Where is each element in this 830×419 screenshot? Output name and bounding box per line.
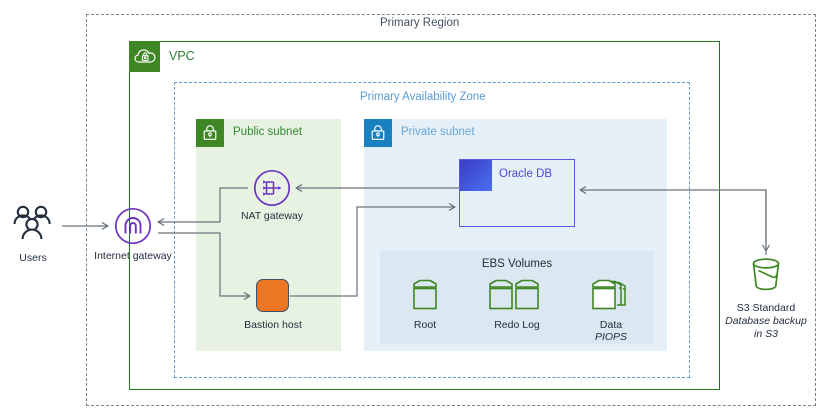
ebs-volumes-title: EBS Volumes xyxy=(380,258,654,270)
oracle-db-label: Oracle DB xyxy=(499,168,552,180)
private-subnet-label: Private subnet xyxy=(401,126,475,138)
public-subnet-area xyxy=(196,119,341,351)
ebs-volume-root[interactable]: Root xyxy=(394,278,456,331)
availability-zone-label: Primary Availability Zone xyxy=(360,91,486,103)
users-icon xyxy=(10,203,56,243)
architecture-diagram: Primary Region VPC Primary Availability … xyxy=(0,0,830,419)
ebs-volume-redo-log[interactable]: Redo Log xyxy=(479,278,555,331)
users-label: Users xyxy=(7,252,59,264)
s3-sublabel-line-2: in S3 xyxy=(714,328,818,341)
ebs-volume-label: Root xyxy=(394,319,456,331)
primary-region-label: Primary Region xyxy=(380,17,459,29)
ebs-volume-icon xyxy=(410,278,440,312)
private-subnet-lock-icon xyxy=(364,119,392,147)
ebs-volume-data[interactable]: Data PIOPS xyxy=(578,278,644,343)
ebs-volume-sublabel: PIOPS xyxy=(578,331,644,343)
bastion-host-instance[interactable] xyxy=(256,279,289,312)
s3-bucket-icon[interactable] xyxy=(745,255,787,297)
ebs-volume-icon xyxy=(589,278,633,312)
nat-gateway-label: NAT gateway xyxy=(227,210,317,222)
ebs-volume-label: Redo Log xyxy=(479,319,555,331)
s3-label: S3 Standard Database backup in S3 xyxy=(714,302,818,341)
internet-gateway-icon[interactable] xyxy=(113,206,153,246)
ebs-volume-label: Data PIOPS xyxy=(578,319,644,343)
vpc-label: VPC xyxy=(169,49,195,63)
ebs-volume-icon xyxy=(488,278,546,312)
nat-gateway-icon[interactable] xyxy=(252,168,292,208)
s3-title: S3 Standard xyxy=(737,302,795,314)
internet-gateway-label: Internet gateway xyxy=(83,250,183,262)
ec2-instance-icon xyxy=(460,160,492,191)
vpc-cloud-lock-icon xyxy=(129,41,160,72)
s3-sublabel-line-1: Database backup xyxy=(714,315,818,328)
public-subnet-label: Public subnet xyxy=(233,126,302,138)
bastion-host-label: Bastion host xyxy=(230,319,316,331)
public-subnet-lock-icon xyxy=(196,119,224,147)
